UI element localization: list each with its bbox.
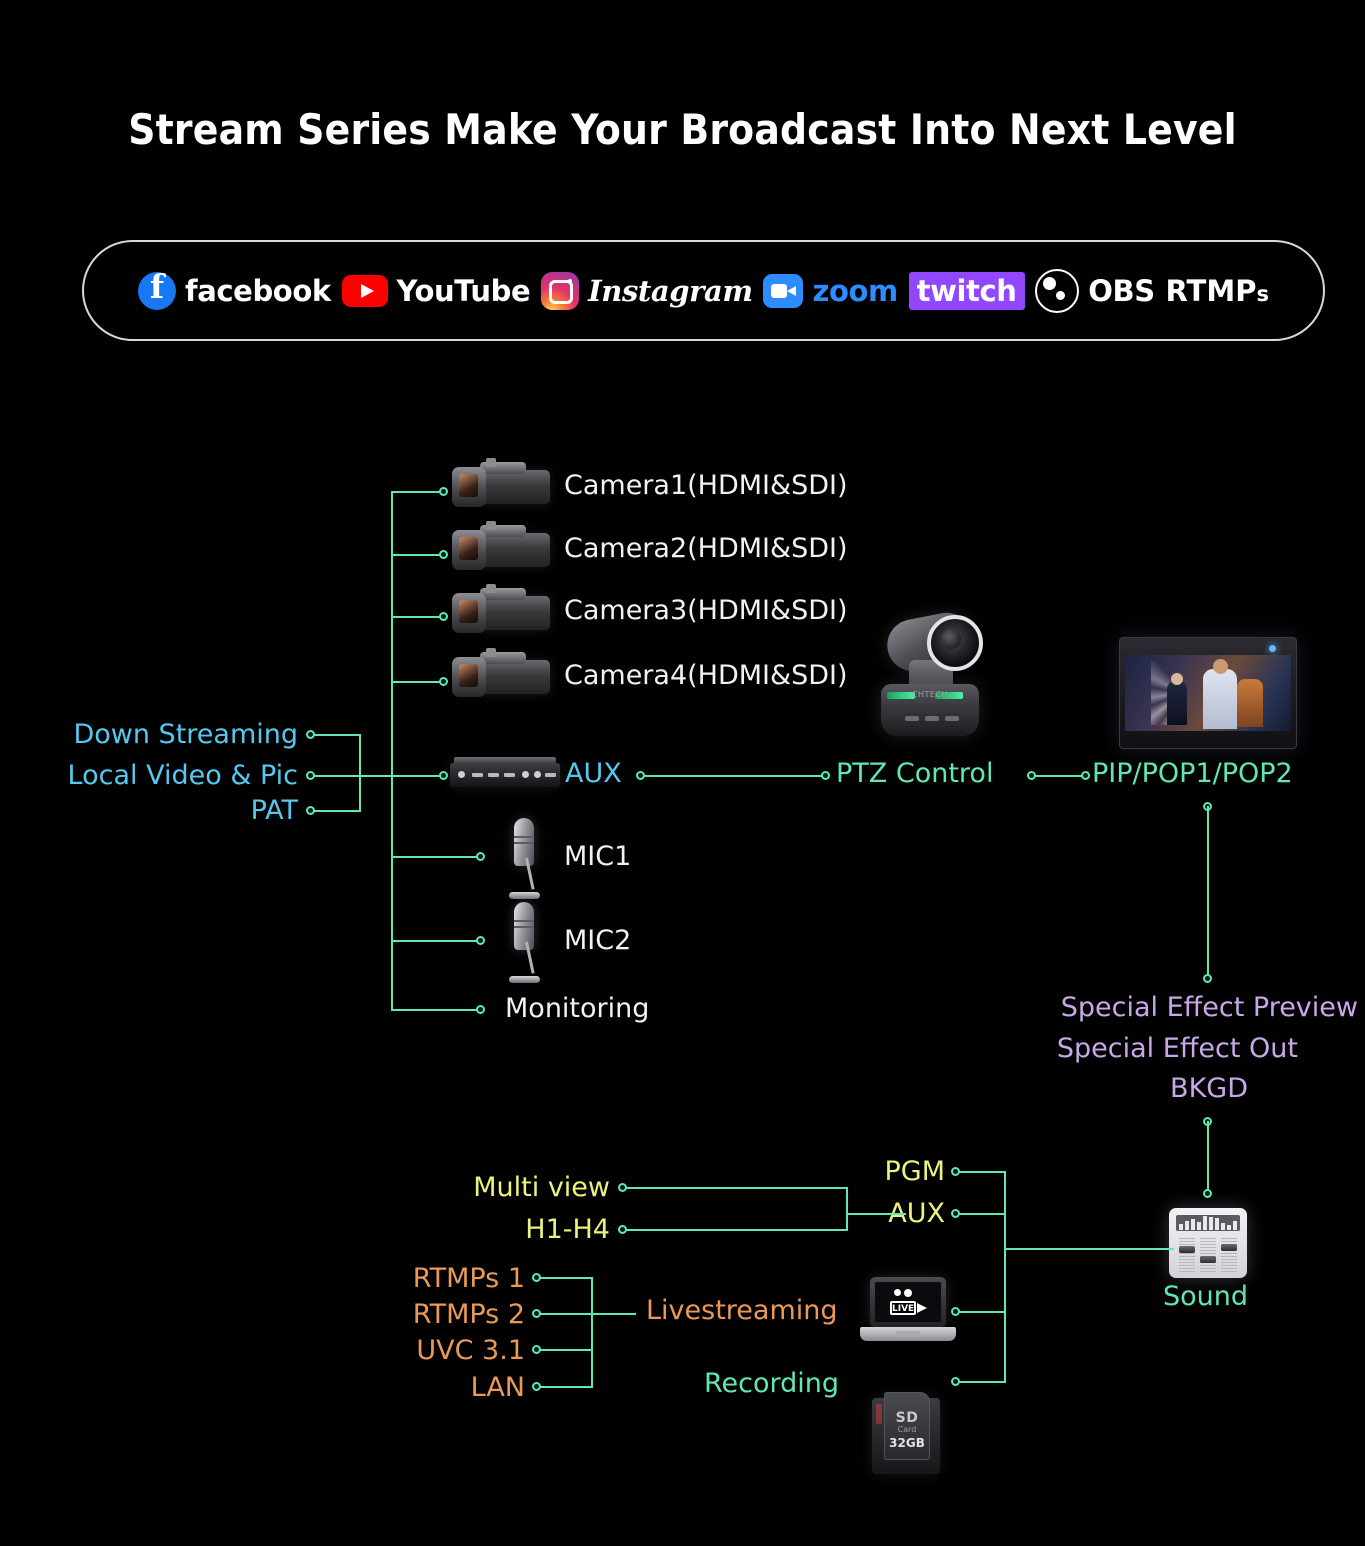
- livestreaming-label: Livestreaming: [646, 1297, 838, 1324]
- mic-device-2: [501, 902, 547, 988]
- rtmps-label: RTMPs: [1166, 274, 1269, 308]
- connector-monitoring: [391, 1009, 480, 1011]
- camera-label-3: Camera3(HDMI&SDI): [564, 597, 848, 624]
- connector-multiview-bus: [846, 1187, 848, 1231]
- camera-device-1: [452, 462, 552, 514]
- connector-left-bus: [359, 734, 361, 812]
- mic-device-1: [501, 818, 547, 904]
- platform-label: YouTube: [397, 274, 531, 308]
- connector-aux-to-ptz: [644, 775, 823, 777]
- livestream-laptop-device: LIVE: [860, 1277, 956, 1349]
- connector-pat: [314, 810, 361, 812]
- aux-mixer-device: [450, 757, 560, 791]
- stream-label-rtmps1: RTMPs 1: [280, 1265, 525, 1292]
- connector-bus-to-sound: [1004, 1248, 1174, 1250]
- connector-dot-camera2: [439, 550, 448, 559]
- twitch-icon: twitch: [909, 272, 1025, 310]
- stream-label-uvc: UVC 3.1: [280, 1337, 525, 1364]
- connector-rtmps1: [540, 1277, 593, 1279]
- platform-facebook[interactable]: facebook: [138, 272, 331, 310]
- source-label-local-video-pic: Local Video & Pic: [0, 762, 298, 789]
- rtmps-main: RTMP: [1166, 274, 1257, 308]
- diagram-canvas: Stream Series Make Your Broadcast Into N…: [0, 0, 1365, 1546]
- h1h4-label: H1-H4: [330, 1216, 610, 1243]
- camera-label-2: Camera2(HDMI&SDI): [564, 535, 848, 562]
- connector-local-video: [314, 775, 441, 777]
- connector-camera2: [391, 554, 443, 556]
- stream-label-lan: LAN: [280, 1374, 525, 1401]
- connector-dot-camera4: [439, 677, 448, 686]
- connector-rtmps2: [540, 1313, 636, 1315]
- connector-mic1: [391, 856, 480, 858]
- source-label-down-streaming: Down Streaming: [0, 721, 298, 748]
- sd-capacity-text: 32GB: [884, 1436, 930, 1450]
- connector-stream-bus: [591, 1277, 593, 1388]
- platform-obs[interactable]: OBS: [1035, 269, 1154, 313]
- sd-type-text: Card: [884, 1425, 930, 1434]
- ptz-camera-device: CHTECH: [865, 612, 995, 740]
- monitoring-label: Monitoring: [505, 995, 649, 1022]
- sd-card-device: SD Card 32GB: [872, 1392, 940, 1478]
- preview-monitor-device: [1119, 637, 1297, 755]
- connector-multiview-to-aux: [846, 1213, 906, 1215]
- connector-uvc: [540, 1349, 593, 1351]
- connector-camera3: [391, 616, 443, 618]
- camera-label-4: Camera4(HDMI&SDI): [564, 662, 848, 689]
- multi-view-label: Multi view: [330, 1174, 610, 1201]
- connector-camera4: [391, 681, 443, 683]
- camera-device-3: [452, 588, 552, 640]
- platform-label: Instagram: [588, 274, 753, 308]
- platform-youtube[interactable]: YouTube: [342, 274, 531, 308]
- rtmps-sub: s: [1256, 282, 1269, 306]
- connector-pip-to-effects: [1207, 806, 1209, 978]
- source-label-pat: PAT: [0, 797, 298, 824]
- connector-camera1: [391, 491, 443, 493]
- platform-twitch[interactable]: twitch: [909, 272, 1025, 310]
- live-badge: LIVE: [890, 1301, 916, 1315]
- platform-label: OBS: [1088, 274, 1154, 308]
- sound-label: Sound: [1163, 1283, 1248, 1310]
- sound-mixer-device: [1169, 1208, 1247, 1278]
- connector-dot-bkgd-down-bottom: [1203, 1189, 1212, 1198]
- connector-dot-monitoring: [476, 1005, 485, 1014]
- camera-device-2: [452, 525, 552, 577]
- platform-logo-bar: facebook YouTube Instagram zoom twitch O…: [82, 240, 1325, 341]
- platform-label: zoom: [812, 274, 897, 308]
- output-bus-vertical: [1004, 1171, 1006, 1381]
- platform-rtmps[interactable]: RTMPs: [1166, 274, 1269, 308]
- platform-zoom[interactable]: zoom: [763, 274, 897, 308]
- obs-icon: [1035, 269, 1079, 313]
- connector-dot-pip-in: [1081, 771, 1090, 780]
- platform-instagram[interactable]: Instagram: [541, 272, 753, 310]
- zoom-icon: [763, 274, 803, 308]
- connector-laptop-to-bus: [959, 1311, 1006, 1313]
- connector-lan: [540, 1386, 593, 1388]
- input-bus-vertical: [391, 492, 393, 1010]
- connector-dot-pip-down-bottom: [1203, 974, 1212, 983]
- camera-label-1: Camera1(HDMI&SDI): [564, 472, 848, 499]
- connector-bkgd-to-sound: [1207, 1121, 1209, 1193]
- stream-label-rtmps2: RTMPs 2: [280, 1301, 525, 1328]
- mic-label-1: MIC1: [564, 843, 631, 870]
- instagram-icon: [541, 272, 579, 310]
- connector-dot-ptz-in: [821, 771, 830, 780]
- connector-down-streaming: [314, 734, 361, 736]
- recording-label: Recording: [704, 1370, 839, 1397]
- effect-label-out: Special Effect Out: [900, 1035, 1298, 1062]
- effect-label-bkgd: BKGD: [900, 1075, 1248, 1102]
- youtube-icon: [342, 275, 388, 307]
- connector-h1h4: [626, 1229, 848, 1231]
- facebook-icon: [138, 272, 176, 310]
- connector-dot-mic1: [476, 852, 485, 861]
- page-title: Stream Series Make Your Broadcast Into N…: [0, 105, 1365, 154]
- connector-mic2: [391, 940, 480, 942]
- sd-brand-text: SD: [884, 1410, 930, 1426]
- connector-pgm-to-bus: [959, 1171, 1006, 1173]
- connector-dot-camera3: [439, 612, 448, 621]
- connector-dot-mic2: [476, 936, 485, 945]
- effect-label-preview: Special Effect Preview: [900, 994, 1358, 1021]
- ptz-control-label: PTZ Control: [836, 760, 993, 787]
- connector-multi-view: [626, 1187, 848, 1189]
- mic-label-2: MIC2: [564, 927, 631, 954]
- ptz-brand-text: CHTECH: [901, 690, 959, 699]
- aux-input-label: AUX: [565, 760, 622, 787]
- camera-device-4: [452, 652, 552, 704]
- connector-aux-to-bus: [959, 1213, 1006, 1215]
- connector-recording-to-bus: [959, 1381, 1006, 1383]
- pip-pop-label: PIP/POP1/POP2: [1092, 760, 1293, 787]
- platform-label: facebook: [185, 274, 331, 308]
- connector-ptz-to-pip: [1035, 775, 1083, 777]
- pgm-label: PGM: [700, 1158, 945, 1185]
- aux-output-label: AUX: [700, 1200, 945, 1227]
- connector-dot-camera1: [439, 487, 448, 496]
